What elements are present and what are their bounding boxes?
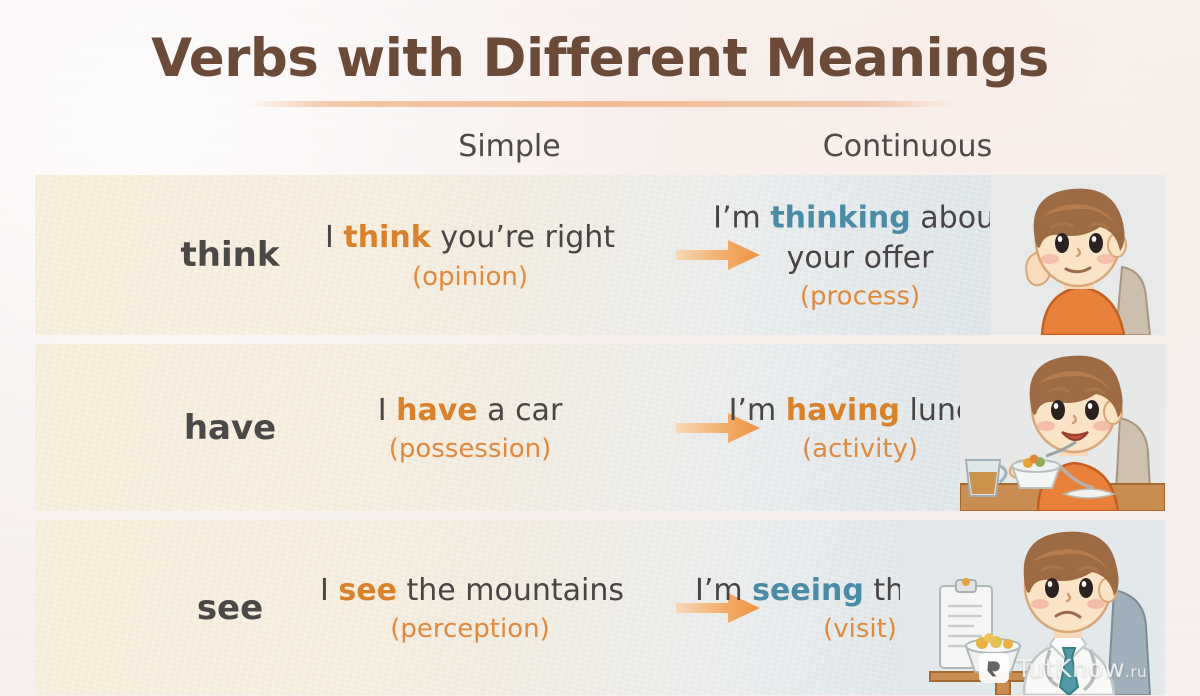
simple-keyword: have <box>396 393 478 428</box>
sentence-prefix: I’m <box>713 200 770 235</box>
simple-meaning-tag: (perception) <box>320 614 620 644</box>
verb-table: think I think you’re right (opinion) I’m… <box>35 175 1165 695</box>
sentence-prefix: I <box>378 393 396 428</box>
watermark-name: TutKnow <box>1016 654 1125 683</box>
tutknow-logo-icon <box>979 653 1009 683</box>
table-row: have I have a car (possession) I’m havin… <box>35 344 1165 511</box>
verb-label: have <box>120 408 340 448</box>
verb-label: think <box>120 235 340 275</box>
simple-sentence: I think you’re right <box>320 218 620 258</box>
simple-sentence: I have a car <box>320 391 620 431</box>
sentence-prefix: I <box>320 573 338 608</box>
simple-sentence: I see the mountains <box>320 571 620 611</box>
illustration-boy-thinking <box>990 175 1165 335</box>
simple-example-cell: I see the mountains (perception) <box>320 571 620 645</box>
continuous-keyword: thinking <box>770 200 910 235</box>
sentence-prefix: I’m <box>695 573 752 608</box>
sentence-suffix: a car <box>478 393 563 428</box>
title-divider <box>248 101 956 107</box>
simple-example-cell: I think you’re right (opinion) <box>320 218 620 292</box>
sentence-prefix: I <box>325 220 343 255</box>
illustration-boy-eating-lunch <box>960 344 1165 511</box>
column-headers: Simple Continuous <box>0 129 1200 167</box>
column-header-continuous: Continuous <box>760 129 1055 164</box>
table-row: see I see the mountains (perception) I’m… <box>35 520 1165 695</box>
watermark-suffix: .ru <box>1125 663 1147 681</box>
sentence-suffix: the mountains <box>397 573 624 608</box>
continuous-keyword: seeing <box>752 573 864 608</box>
simple-example-cell: I have a car (possession) <box>320 391 620 465</box>
page-title: Verbs with Different Meanings <box>0 28 1200 89</box>
verb-label: see <box>120 588 340 628</box>
column-header-simple: Simple <box>392 129 627 164</box>
sentence-prefix: I’m <box>729 393 786 428</box>
continuous-meaning-tag: (process) <box>695 282 1025 312</box>
continuous-example-cell: I’m thinking about your offer (process) <box>695 198 1025 311</box>
continuous-keyword: having <box>786 393 900 428</box>
simple-keyword: see <box>338 573 397 608</box>
continuous-sentence: I’m thinking about your offer <box>695 198 1025 277</box>
sentence-suffix: you’re right <box>431 220 615 255</box>
watermark: TutKnow.ru <box>979 653 1147 683</box>
simple-keyword: think <box>343 220 430 255</box>
simple-meaning-tag: (opinion) <box>320 262 620 292</box>
table-row: think I think you’re right (opinion) I’m… <box>35 175 1165 335</box>
simple-meaning-tag: (possession) <box>320 434 620 464</box>
watermark-text: TutKnow.ru <box>1016 654 1147 683</box>
